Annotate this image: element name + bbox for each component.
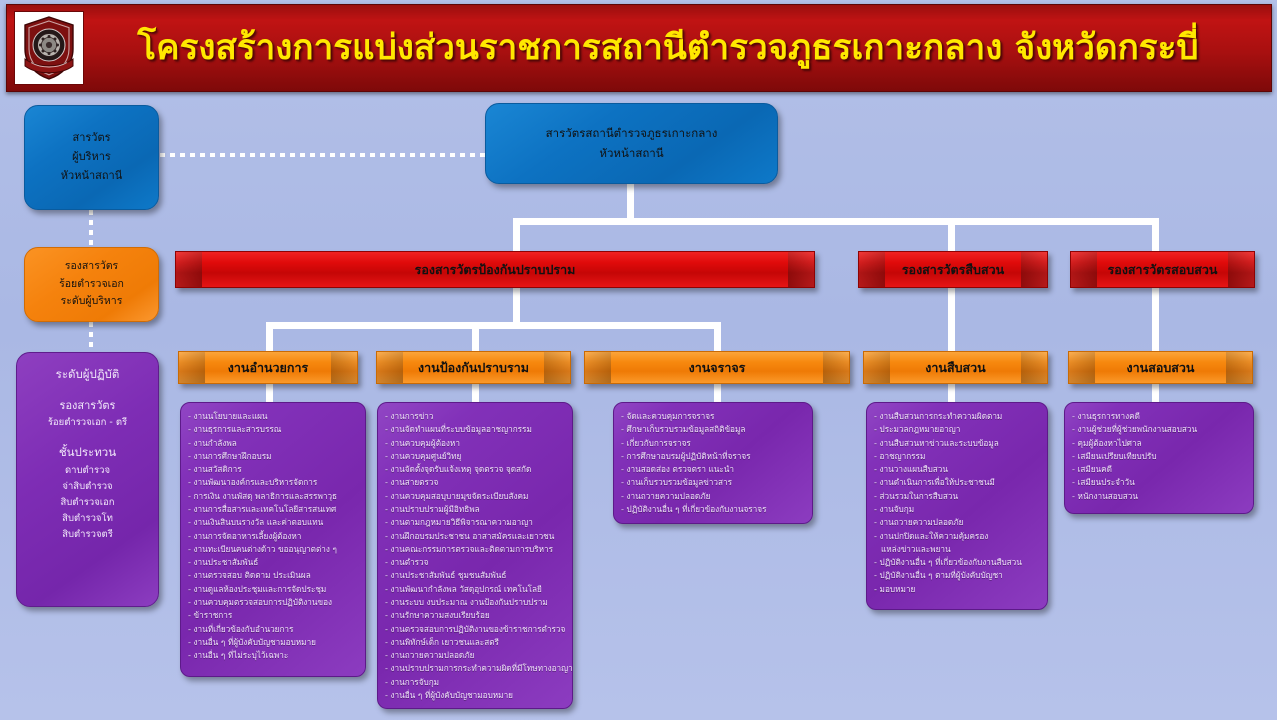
operational-line-8: สิบตำรวจโท [25,511,150,527]
page-header: โครงสร้างการแบ่งส่วนราชการสถานีตำรวจภูธร… [6,4,1272,92]
task-item: - งานระบบ งบประมาณ งานป้องกันปราบปราม [385,596,566,609]
task-item: - งานดำเนินการเพื่อให้ประชาชนมี [874,476,1041,489]
executive-line-2: ผู้บริหาร [33,148,150,167]
root-line-2: หัวหน้าสถานี [494,144,769,164]
task-item: - งานผู้ช่วยที่ผู้ช่วยพนักงานสอบสวน [1072,423,1247,436]
task-item: - งานดูแลห้องประชุมและการจัดประชุม [188,583,359,596]
operational-spacer-2 [25,431,150,443]
left-rail-deputy-box[interactable]: รองสารวัตร ร้อยตำรวจเอก ระดับผู้บริหาร [24,247,159,322]
task-item: - เสมียนเปรียบเทียบปรับ [1072,450,1247,463]
task-item: - งานสืบสวนการกระทำความผิดตาม [874,410,1041,423]
task-item: - งานถวายความปลอดภัย [621,490,806,503]
task-item: - จัดและควบคุมการจราจร [621,410,806,423]
operational-line-2: รองสารวัตร [25,397,150,416]
task-panel-traffic[interactable]: - จัดและควบคุมการจราจร- ศึกษาเก็บรวบรวมข… [613,402,813,524]
operational-spacer-1 [25,385,150,397]
task-item: - งานฝึกอบรมประชาชน อาสาสมัครและเยาวชน [385,530,566,543]
operational-line-1: ระดับผู้ปฏิบัติ [25,365,150,385]
deputy-bar-inquiry-label: รองสารวัตรสอบสวน [1080,260,1246,280]
task-list-admin: - งานนโยบายและแผน- งานธุรการและสารบรรณ- … [188,410,359,662]
task-item: - ข้าราชการ [188,609,359,622]
task-panel-inquiry[interactable]: - งานธุรการทางคดี- งานผู้ช่วยที่ผู้ช่วยพ… [1064,402,1254,514]
left-rail-operational-box[interactable]: ระดับผู้ปฏิบัติ รองสารวัตร ร้อยตำรวจเอก … [16,352,159,607]
division-bar-admin-label: งานอำนวยการ [200,358,336,378]
task-item: - งานอื่น ๆ ที่ไม่ระบุไว้เฉพาะ [188,649,359,662]
task-item: - งานพัฒนากำลังพล วัสดุอุปกรณ์ เทคโนโลยี [385,583,566,596]
task-item: - งานการจัดอาหารเลี้ยงผู้ต้องหา [188,530,359,543]
executive-line-3: หัวหน้าสถานี [33,167,150,186]
task-item: - คุมผู้ต้องหาไปศาล [1072,437,1247,450]
task-item: - งานควบคุมศูนย์วิทยุ [385,450,566,463]
task-item: - งานการข่าว [385,410,566,423]
deputy-bar-investigation-label: รองสารวัตรสืบสวน [874,260,1032,280]
operational-line-4: ชั้นประทวน [25,443,150,463]
connector-drop-admin [266,322,273,354]
task-item: - งานการจับกุม [385,676,566,689]
connector-exec-to-deputy [89,210,93,248]
deputy-line-2: ร้อยตำรวจเอก [33,276,150,294]
task-panel-prevention[interactable]: - งานการข่าว- งานจัดทำแผนที่ระบบข้อมูลอา… [377,402,573,709]
root-line-1: สารวัตรสถานีตำรวจภูธรเกาะกลาง [494,124,769,144]
task-item: - งานประชาสัมพันธ์ [188,556,359,569]
task-list-prevention: - งานการข่าว- งานจัดทำแผนที่ระบบข้อมูลอา… [385,410,566,702]
task-item: - งานประชาสัมพันธ์ ชุมชนสัมพันธ์ [385,569,566,582]
task-panel-admin[interactable]: - งานนโยบายและแผน- งานธุรการและสารบรรณ- … [180,402,366,677]
division-bar-inquiry-label: งานสอบสวน [1099,358,1223,378]
connector-drop-prevention-work [472,322,479,354]
task-item: - งานจัดทำแผนที่ระบบข้อมูลอาชญากรรม [385,423,566,436]
deputy-bar-investigation[interactable]: รองสารวัตรสืบสวน [858,251,1048,288]
task-item: - หนักงานสอบสวน [1072,490,1247,503]
division-bar-traffic[interactable]: งานจราจร [584,351,850,384]
task-item: - งานธุรการและสารบรรณ [188,423,359,436]
connector-prevention-bus [266,322,721,329]
task-item: - เกี่ยวกับการจราจร [621,437,806,450]
task-item: - มอบหมาย [874,583,1041,596]
task-item: - งานที่เกี่ยวข้องกับอำนวยการ [188,623,359,636]
task-item: - งานควบคุมตรวจสอบการปฏิบัติงานของ [188,596,359,609]
task-item: - เสมียนประจำวัน [1072,476,1247,489]
connector-exec-to-root [160,153,488,157]
task-item: - งานรักษาความสงบเรียบร้อย [385,609,566,622]
task-item: - การเงิน งานพัสดุ พลาธิการและสรรพาวุธ [188,490,359,503]
operational-line-5: ดาบตำรวจ [25,463,150,479]
task-list-traffic: - จัดและควบคุมการจราจร- ศึกษาเก็บรวบรวมข… [621,410,806,516]
division-bar-prevention[interactable]: งานป้องกันปราบราม [376,351,571,384]
task-item: - ปฏิบัติงานอื่น ๆ ที่เกี่ยวข้องกับงานจร… [621,503,806,516]
org-chart-canvas: โครงสร้างการแบ่งส่วนราชการสถานีตำรวจภูธร… [0,0,1277,720]
deputy-bar-inquiry[interactable]: รองสารวัตรสอบสวน [1070,251,1255,288]
connector-investigation-stem [948,285,955,353]
operational-line-9: สิบตำรวจตรี [25,527,150,543]
task-item: - การศึกษาอบรมผู้ปฏิบัติหน้าที่จราจร [621,450,806,463]
division-bar-admin[interactable]: งานอำนวยการ [178,351,358,384]
task-item: - งานตรวจสอบการปฏิบัติงานของข้าราชการตำร… [385,623,566,636]
connector-inquiry-stem [1152,285,1159,353]
task-item: - งานตำรวจ [385,556,566,569]
task-item: - งานควบคุมสอบุบายมุขจัดระเบียบสังคม [385,490,566,503]
page-title: โครงสร้างการแบ่งส่วนราชการสถานีตำรวจภูธร… [83,29,1271,68]
task-list-investigation: - งานสืบสวนการกระทำความผิดตาม- ประมวลกฎห… [874,410,1041,596]
task-item: - งานเงินสินบนรางวัล และค่าตอบแทน [188,516,359,529]
task-item: - งานปราบปรามผู้มีอิทธิพล [385,503,566,516]
task-item: แหล่งข่าวและพยาน [874,543,1041,556]
operational-line-3: ร้อยตำรวจเอก - ตรี [25,415,150,431]
task-item: - งานพิทักษ์เด็ก เยาวชนและสตรี [385,636,566,649]
division-bar-investigation-label: งานสืบสวน [897,358,1013,378]
deputy-line-1: รองสารวัตร [33,258,150,276]
task-panel-investigation[interactable]: - งานสืบสวนการกระทำความผิดตาม- ประมวลกฎห… [866,402,1048,610]
task-item: - งานการสื่อสารและเทคโนโลยีสารสนเทศ [188,503,359,516]
connector-deputy-bus [513,218,1159,225]
left-rail-executive-box[interactable]: สารวัตร ผู้บริหาร หัวหน้าสถานี [24,105,159,210]
connector-prevention-stem [513,285,520,327]
royal-thai-police-emblem-icon [15,12,83,84]
task-item: - เสมียนคดี [1072,463,1247,476]
task-item: - งานปราบปรามการกระทำความผิดที่มีโทษทางอ… [385,662,566,675]
division-bar-investigation[interactable]: งานสืบสวน [863,351,1048,384]
task-item: - งานการศึกษาฝึกอบรม [188,450,359,463]
task-item: - งานถวายความปลอดภัย [874,516,1041,529]
task-item: - งานกำลังพล [188,437,359,450]
executive-line-1: สารวัตร [33,129,150,148]
task-item: - งานถวายความปลอดภัย [385,649,566,662]
task-item: - งานธุรการทางคดี [1072,410,1247,423]
task-list-inquiry: - งานธุรการทางคดี- งานผู้ช่วยที่ผู้ช่วยพ… [1072,410,1247,503]
task-item: - งานทะเบียนคนต่างด้าว ขออนุญาตต่าง ๆ [188,543,359,556]
division-bar-prevention-label: งานป้องกันปราบราม [390,358,557,378]
connector-drop-traffic [714,322,721,354]
operational-line-6: จ่าสิบตำรวจ [25,479,150,495]
root-station-chief-box[interactable]: สารวัตรสถานีตำรวจภูธรเกาะกลาง หัวหน้าสถา… [485,103,778,184]
deputy-line-3: ระดับผู้บริหาร [33,293,150,311]
connector-drop-investigation [948,218,955,254]
task-item: - งานอื่น ๆ ที่ผู้บังคับบัญชามอบหมาย [188,636,359,649]
task-item: - งานนโยบายและแผน [188,410,359,423]
task-item: - อาชญากรรม [874,450,1041,463]
division-bar-traffic-label: งานจราจร [661,358,774,378]
task-item: - งานตามกฎหมายวิธีพิจารณาความอาญา [385,516,566,529]
task-item: - ส่วนรวมในการสืบสวน [874,490,1041,503]
task-item: - งานตรวจสอบ ติดตาม ประเมินผล [188,569,359,582]
deputy-bar-prevention[interactable]: รองสารวัตรป้องกันปราบปราม [175,251,815,288]
deputy-bar-prevention-label: รองสารวัตรป้องกันปราบปราม [387,260,604,280]
task-item: - งานเก็บรวบรวมข้อมูลข่าวสาร [621,476,806,489]
operational-line-7: สิบตำรวจเอก [25,495,150,511]
task-item: - งานพัฒนาองค์กรและบริหารจัดการ [188,476,359,489]
division-bar-inquiry[interactable]: งานสอบสวน [1068,351,1253,384]
task-item: - งานสืบสวนหาข่าวและระบบข้อมูล [874,437,1041,450]
task-item: - ประมวลกฎหมายอาญา [874,423,1041,436]
connector-deputy-to-operational [89,322,93,352]
task-item: - งานสายตรวจ [385,476,566,489]
task-item: - งานควบคุมผู้ต้องหา [385,437,566,450]
task-item: - ศึกษาเก็บรวบรวมข้อมูลสถิติข้อมูล [621,423,806,436]
task-item: - งานสอดส่อง ตรวจตรา แนะนำ [621,463,806,476]
task-item: - งานปกปิดและให้ความคุ้มครอง [874,530,1041,543]
task-item: - งานสวัสดิการ [188,463,359,476]
task-item: - งานวางแผนสืบสวน [874,463,1041,476]
connector-drop-prevention [513,218,520,254]
task-item: - ปฏิบัติงานอื่น ๆ ที่เกี่ยวข้องกับงานสื… [874,556,1041,569]
task-item: - ปฏิบัติงานอื่น ๆ ตามที่ผู้บังคับบัญชา [874,569,1041,582]
task-item: - งานจับกุม [874,503,1041,516]
task-item: - งานจัดตั้งจุดรับแจ้งเหตุ จุดตรวจ จุดสก… [385,463,566,476]
task-item: - งานอื่น ๆ ที่ผู้บังคับบัญชามอบหมาย [385,689,566,702]
task-item: - งานคณะกรรมการตรวจและติดตามการบริหาร [385,543,566,556]
connector-drop-inquiry [1152,218,1159,254]
connector-root-stem [627,184,634,218]
